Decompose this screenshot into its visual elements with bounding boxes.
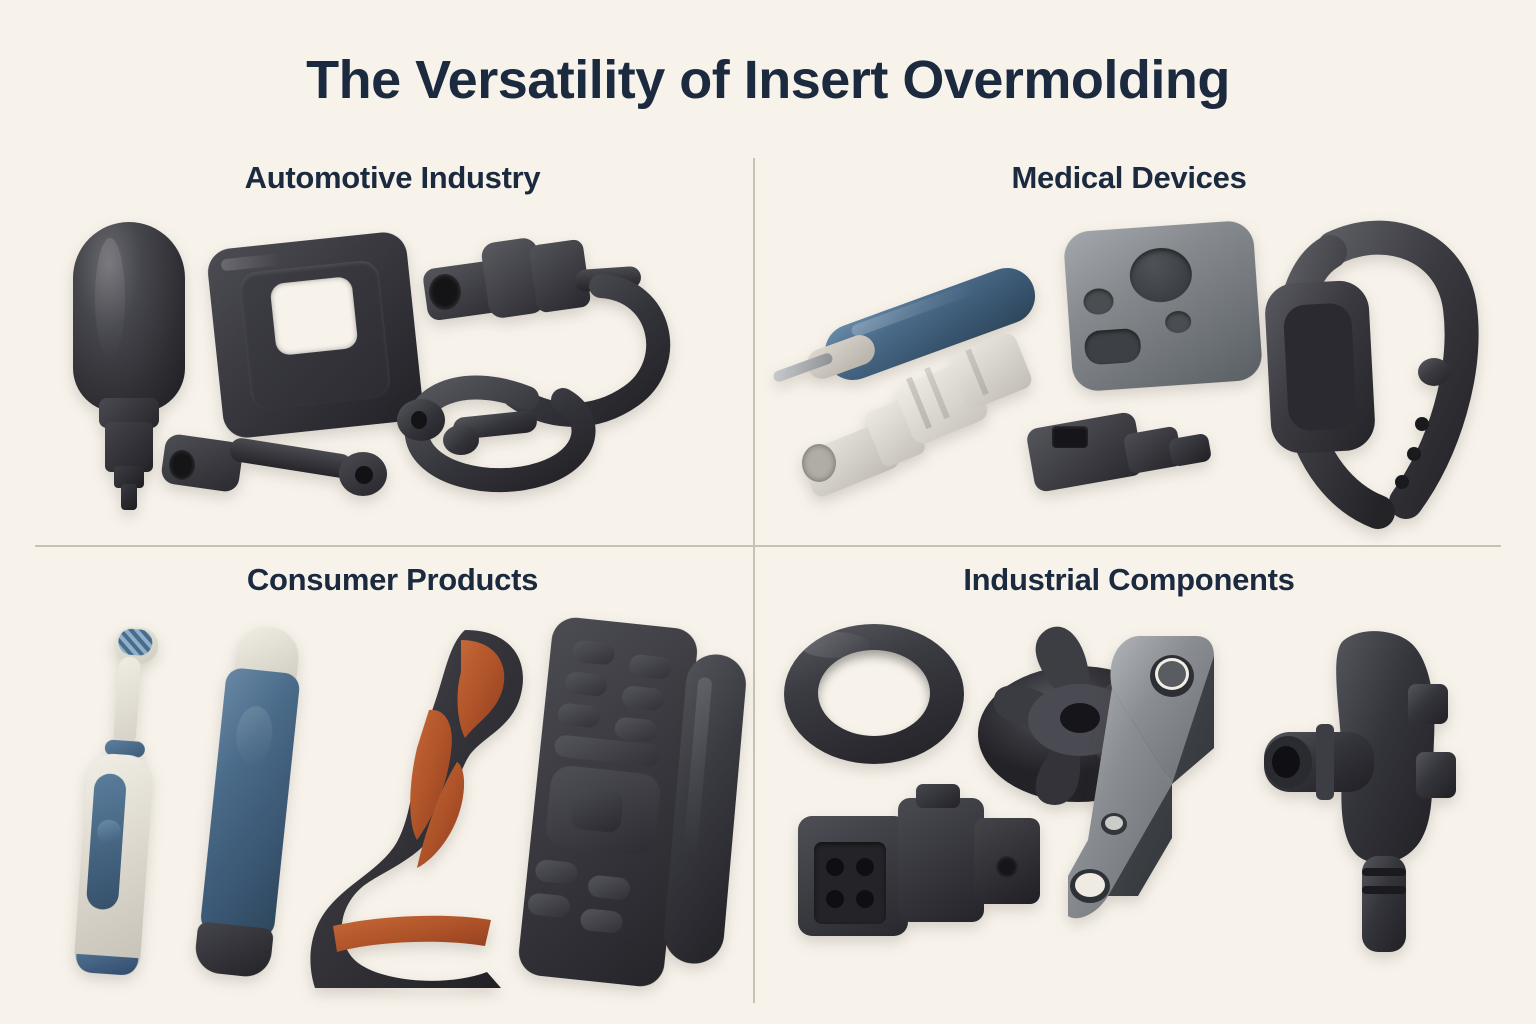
medical-illustration-stage (758, 212, 1500, 542)
bracket-svg (1068, 628, 1268, 958)
page-title: The Versatility of Insert Overmolding (0, 52, 1536, 109)
quadrant-heading-automotive: Automotive Industry (35, 160, 750, 196)
overmolded-cable-loop (395, 268, 685, 498)
quadrant-automotive: Automotive Industry (35, 160, 750, 542)
automotive-illustration-stage (35, 212, 750, 542)
mounting-bracket (1068, 628, 1268, 958)
quadrant-consumer: Consumer Products (35, 562, 750, 1002)
right-angle-connector-svg (1258, 624, 1468, 964)
quadrant-heading-industrial: Industrial Components (758, 562, 1500, 598)
quadrant-industrial: Industrial Components (758, 562, 1500, 1002)
sensor-housing-block (1063, 220, 1264, 393)
horizontal-divider (35, 545, 1501, 547)
cable-loop-svg (395, 268, 685, 498)
four-pin-connector-housing (798, 782, 1048, 942)
infographic-page: The Versatility of Insert Overmolding Au… (0, 0, 1536, 1024)
power-tool-svg (305, 616, 535, 988)
medical-cable-connector (1030, 400, 1220, 510)
luer-tube-connector (798, 332, 1058, 512)
trim-bezel-plate (206, 230, 425, 440)
remote-ok-button[interactable] (570, 786, 624, 833)
wearable-band-svg (1238, 212, 1488, 532)
linkage-arm-connector (163, 420, 403, 510)
quadrant-heading-consumer: Consumer Products (35, 562, 750, 598)
seal-ring-grommet (784, 624, 964, 764)
right-angle-cable-connector (1258, 624, 1468, 964)
vertical-divider (753, 158, 755, 1003)
consumer-illustration-stage (35, 614, 750, 1002)
wearable-monitor-band (1238, 212, 1488, 532)
quadrant-medical: Medical Devices (758, 160, 1500, 542)
power-tool-handle (305, 616, 535, 988)
quadrant-heading-medical: Medical Devices (758, 160, 1500, 196)
industrial-illustration-stage (758, 614, 1500, 1002)
